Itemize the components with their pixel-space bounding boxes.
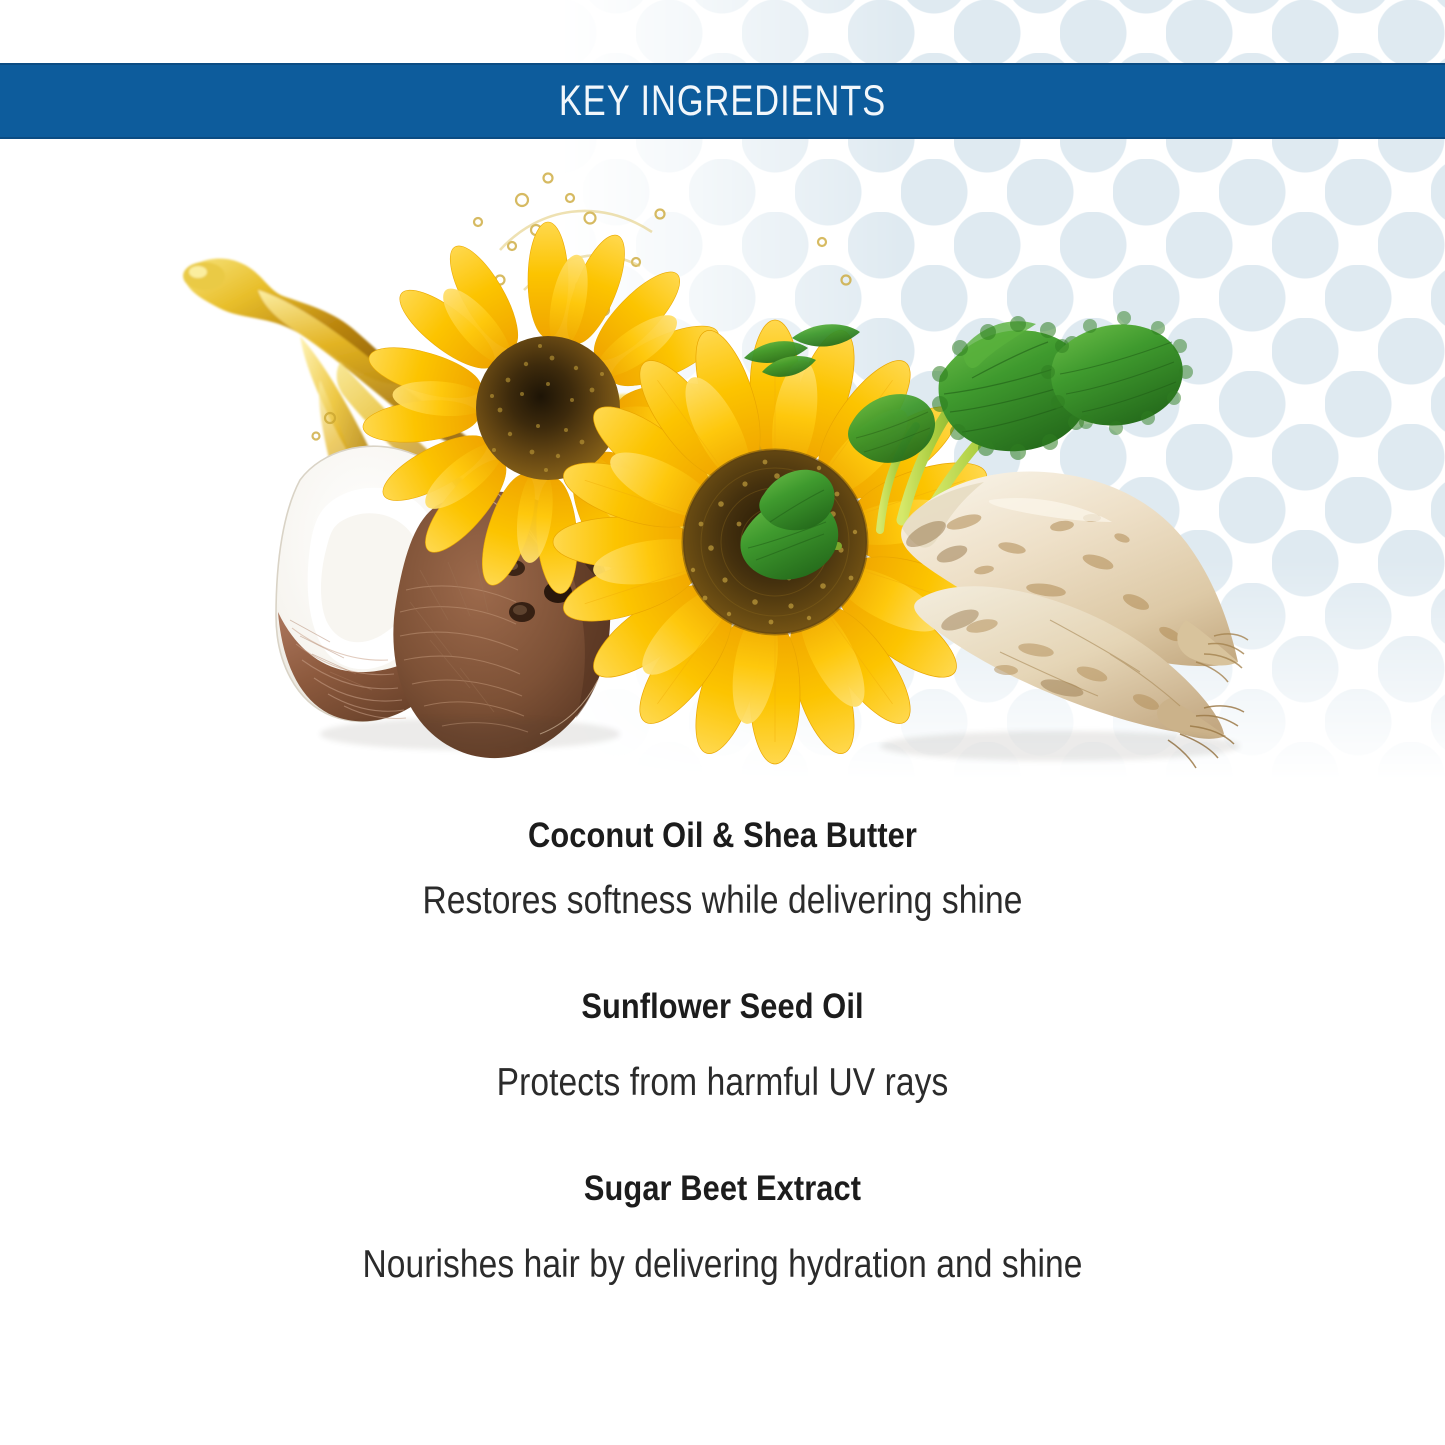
ingredients-hero-image: [0, 150, 1445, 770]
banner-title: KEY INGREDIENTS: [559, 80, 886, 123]
ingredient-description: Restores softness while delivering shine: [101, 878, 1344, 925]
ingredient-name: Coconut Oil & Shea Butter: [87, 815, 1359, 856]
ingredients-list: Coconut Oil & Shea Butter Restores softn…: [0, 815, 1445, 1289]
ingredient-description: Nourishes hair by delivering hydration a…: [101, 1242, 1344, 1289]
ingredient-item: Sunflower Seed Oil Protects from harmful…: [0, 986, 1445, 1107]
ingredient-item: Coconut Oil & Shea Butter Restores softn…: [0, 815, 1445, 925]
key-ingredients-banner: KEY INGREDIENTS: [0, 63, 1445, 139]
ingredient-name: Sunflower Seed Oil: [87, 986, 1359, 1027]
ingredient-name: Sugar Beet Extract: [87, 1168, 1359, 1209]
ingredient-description: Protects from harmful UV rays: [101, 1060, 1344, 1107]
sunflower-back-disc: [476, 336, 620, 480]
infographic-canvas: KEY INGREDIENTS: [0, 0, 1445, 1445]
ingredient-item: Sugar Beet Extract Nourishes hair by del…: [0, 1168, 1445, 1289]
